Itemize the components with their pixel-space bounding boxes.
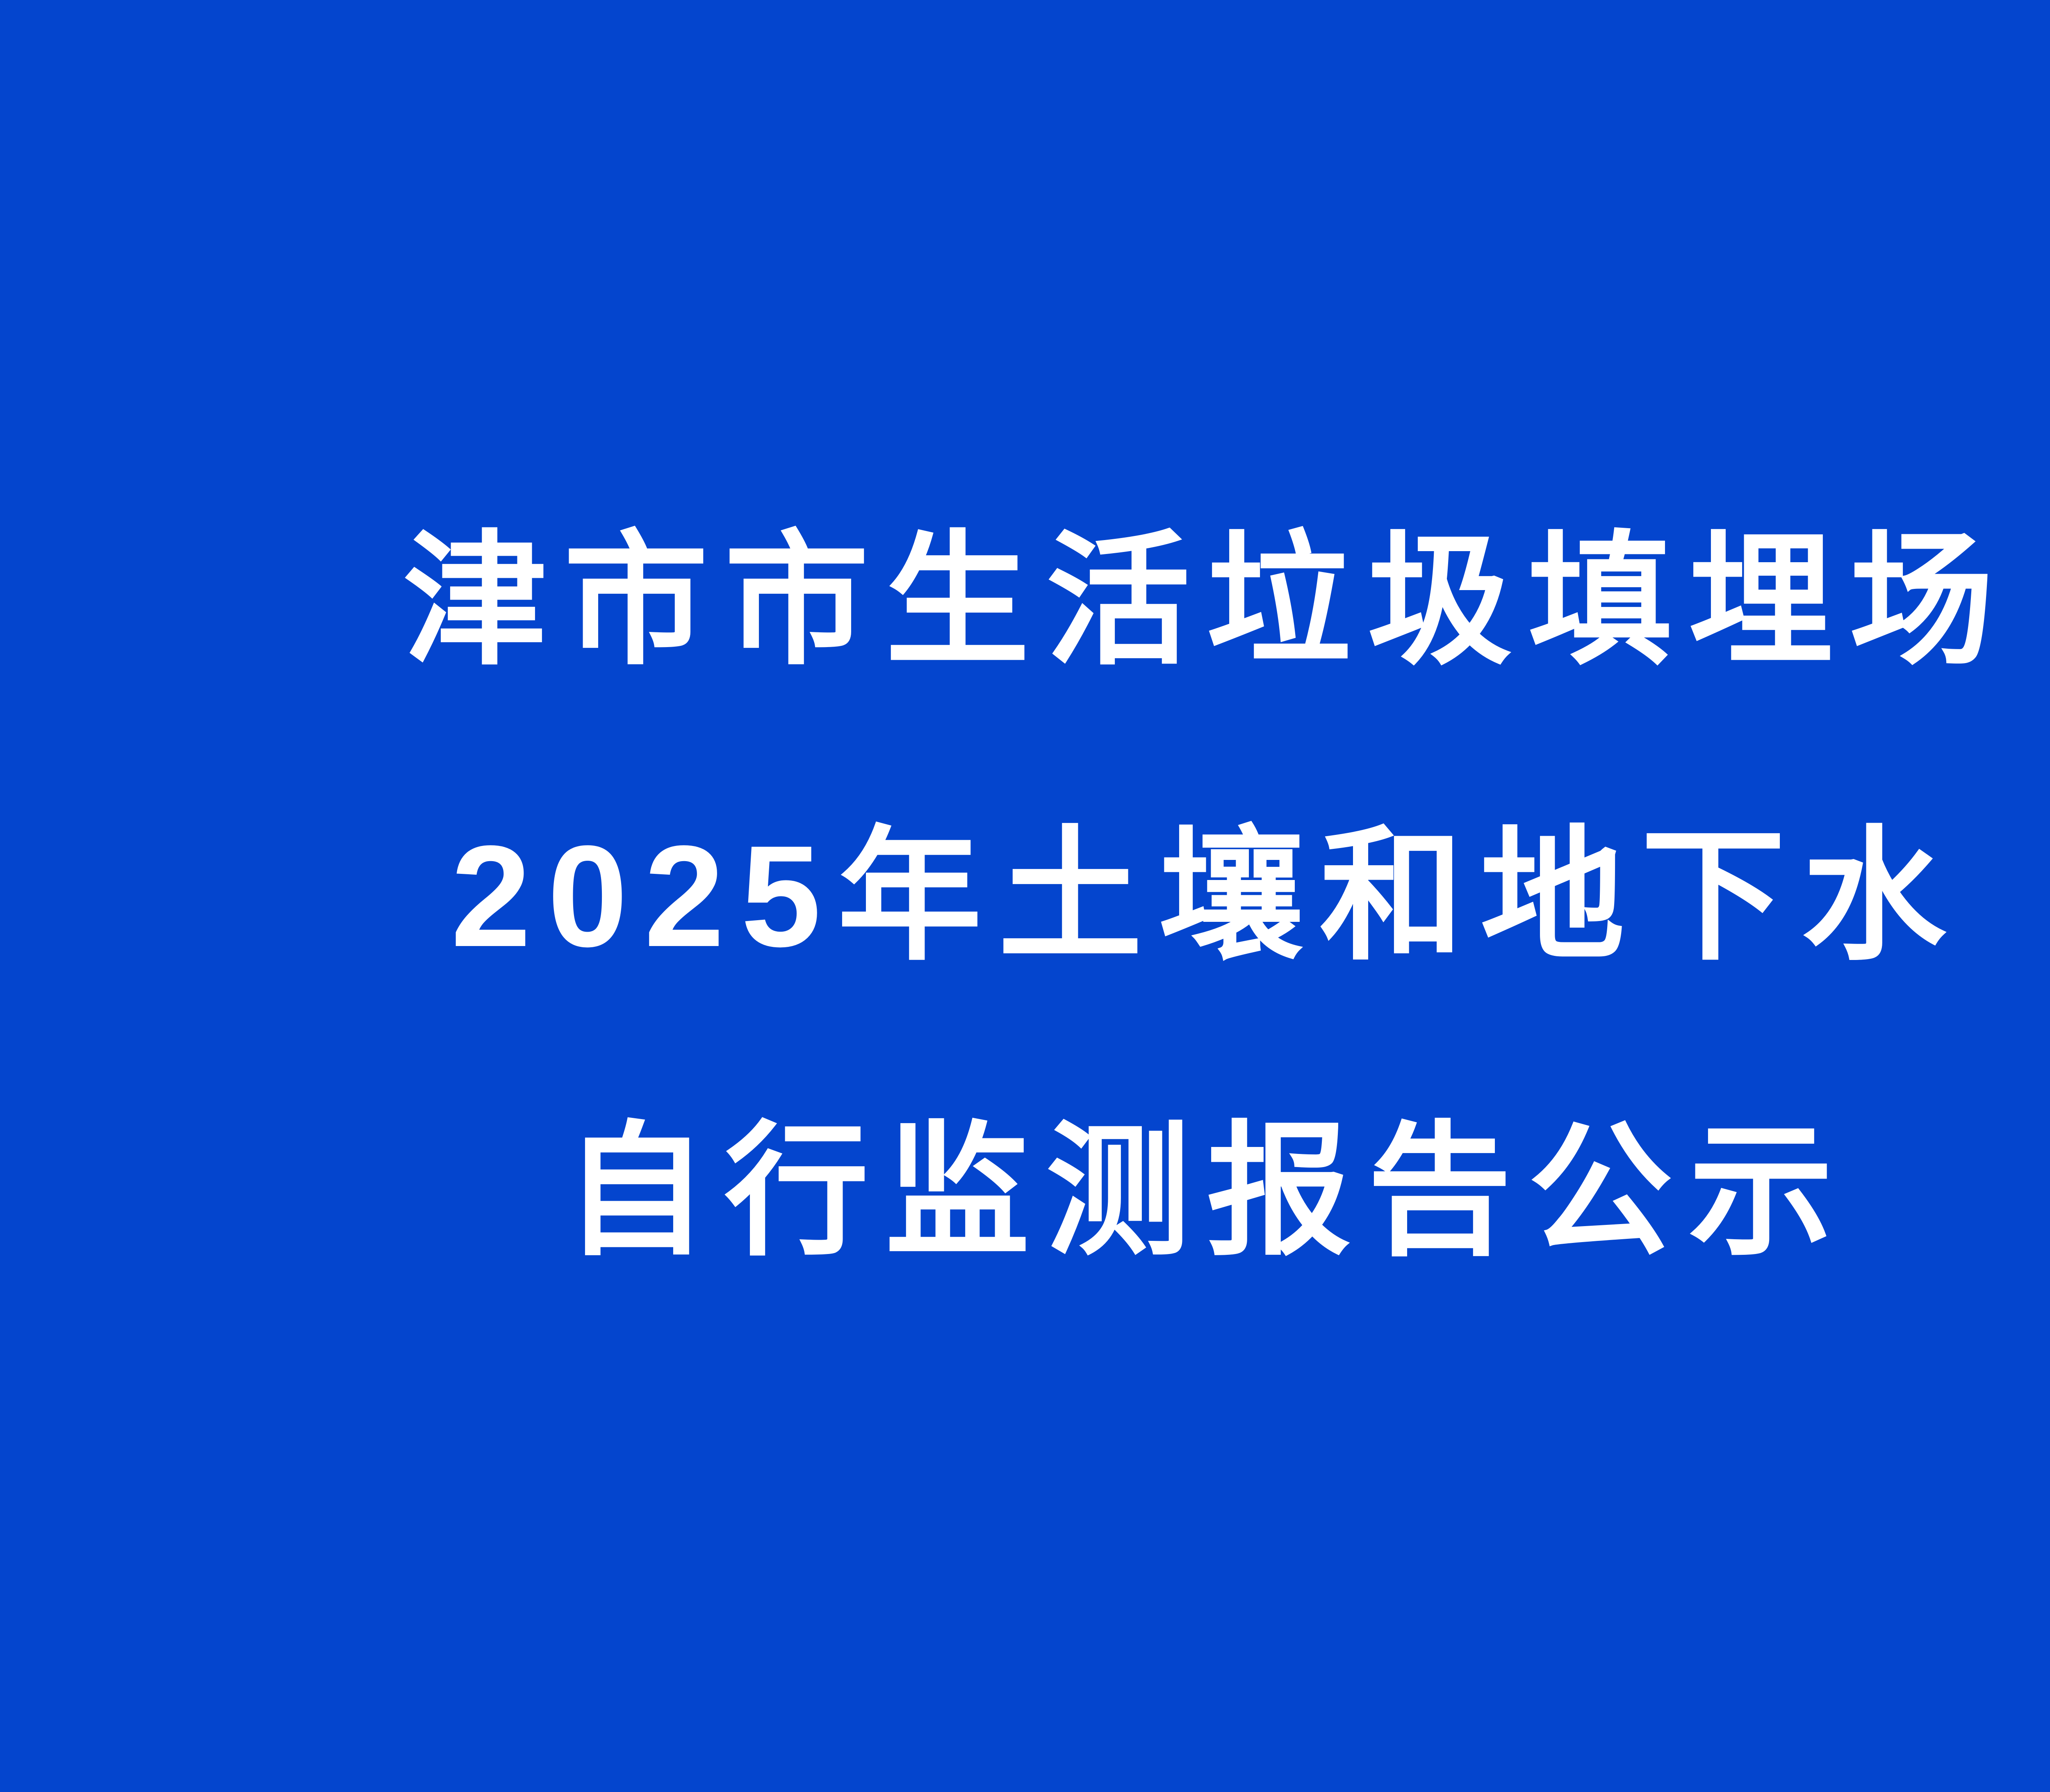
headline-line-3: 自行监测报告公示 xyxy=(0,1044,2050,1339)
notice-poster: 津市市生活垃圾填埋场 2025年土壤和地下水 自行监测报告公示 xyxy=(0,0,2050,1792)
headline-line-2: 2025年土壤和地下水 xyxy=(0,748,2050,1044)
headline-block: 津市市生活垃圾填埋场 2025年土壤和地下水 自行监测报告公示 xyxy=(0,453,2050,1339)
headline-line-1: 津市市生活垃圾填埋场 xyxy=(0,453,2050,748)
